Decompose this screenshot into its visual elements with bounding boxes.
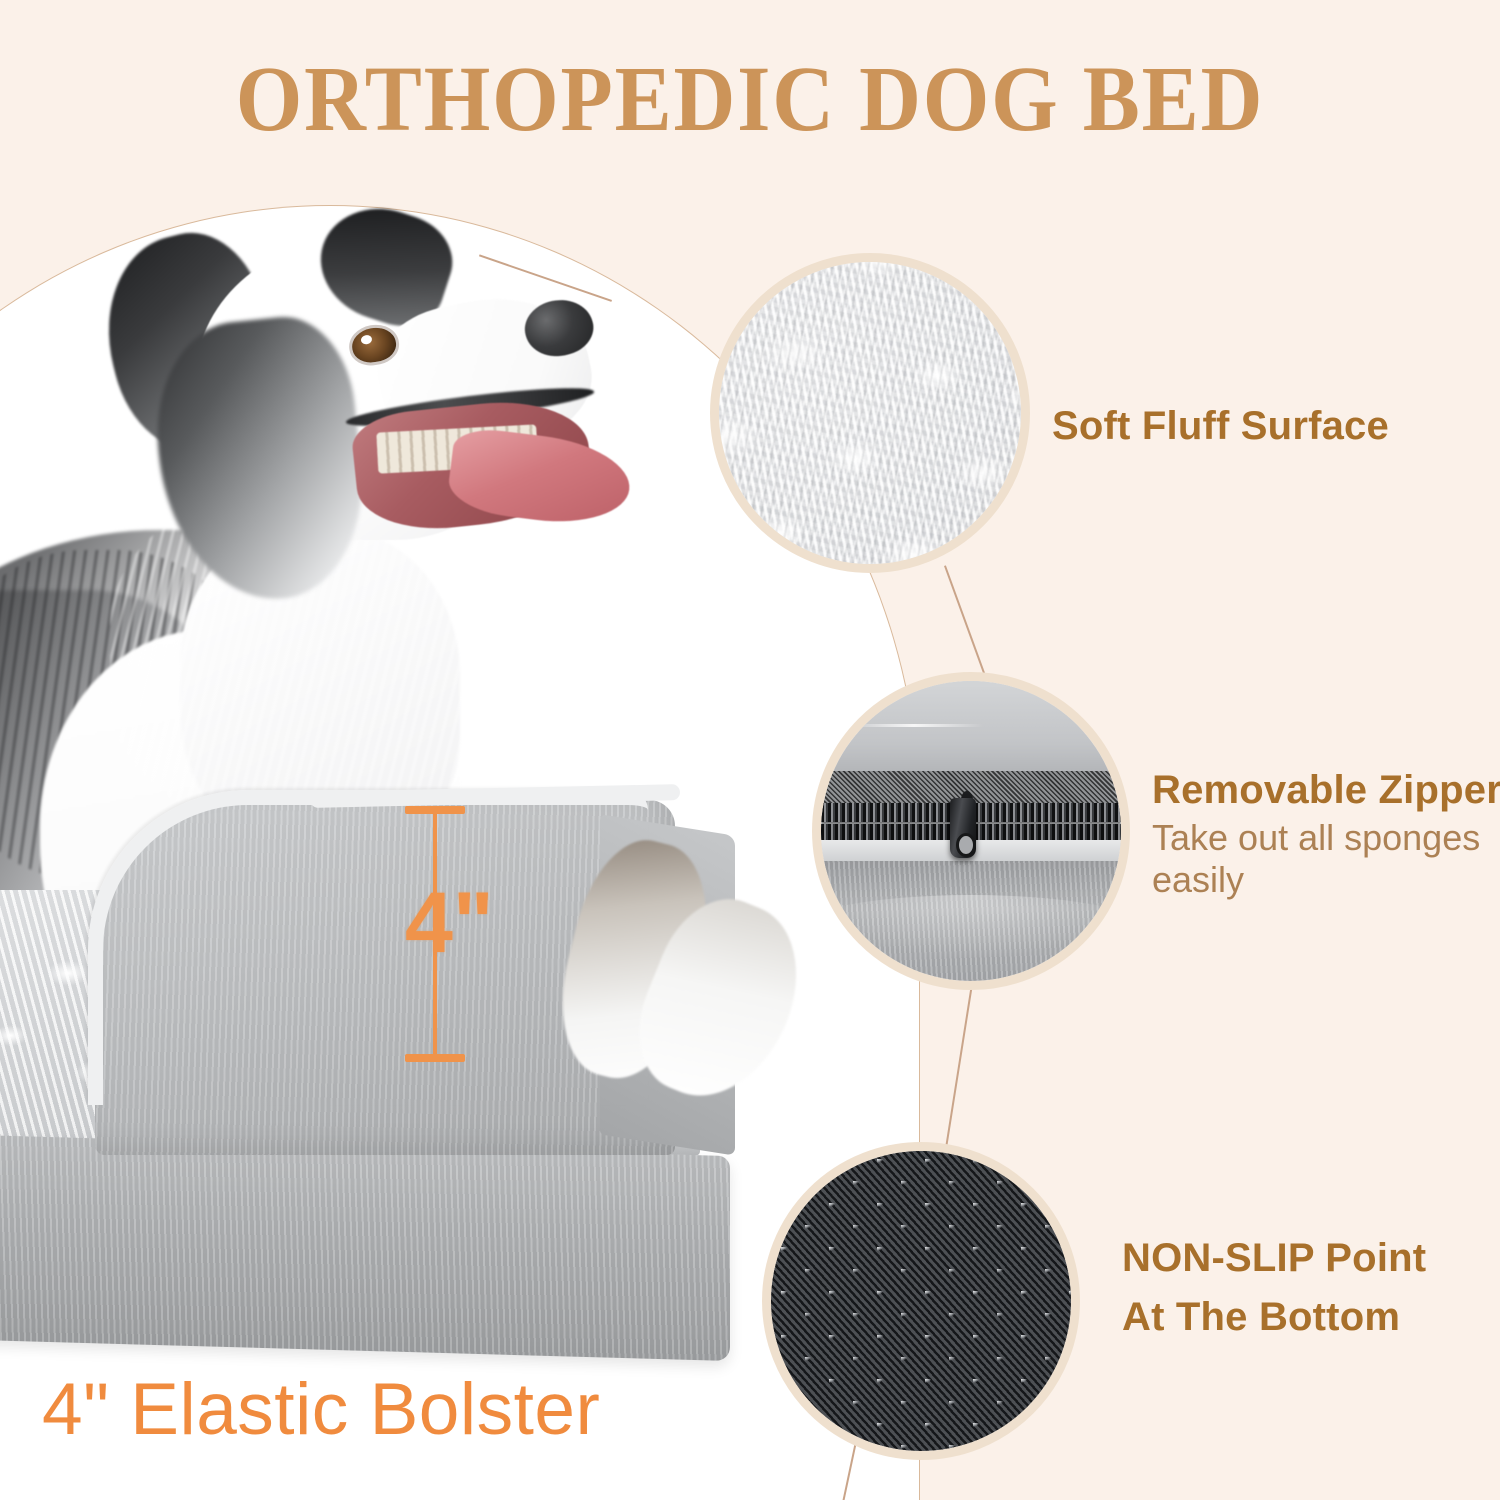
dimension-label-4in: 4": [405, 880, 494, 966]
label-soft-fluff: Soft Fluff Surface: [1052, 404, 1389, 449]
zipper-icon: [821, 681, 1121, 981]
dimension-cap-bottom: [405, 1054, 465, 1062]
label-removable-zipper: Removable Zipper Take out all sponges ea…: [1152, 768, 1500, 901]
label-non-slip: NON-SLIP Point At The Bottom: [1122, 1236, 1426, 1340]
bed-base-slab: [0, 1134, 730, 1361]
caption-elastic-bolster: 4" Elastic Bolster: [42, 1368, 600, 1451]
feature-title-non-slip-line2: At The Bottom: [1122, 1295, 1426, 1340]
feature-subtitle-removable-zipper: Take out all sponges easily: [1152, 817, 1482, 901]
non-slip-dots-icon: [771, 1151, 1071, 1451]
callout-circle-removable-zipper: [812, 672, 1130, 990]
connector-line-zipper-to-nonslip: [944, 984, 973, 1152]
feature-title-removable-zipper: Removable Zipper: [1152, 768, 1500, 813]
bed-piping-trim: [88, 790, 648, 1105]
callout-circle-soft-fluff: [710, 253, 1030, 573]
feature-title-non-slip-line1: NON-SLIP Point: [1122, 1236, 1426, 1281]
fluff-texture-icon: [719, 262, 1021, 564]
product-photo-dog-on-bed: 4": [0, 200, 830, 1500]
callout-circle-non-slip: [762, 1142, 1080, 1460]
page-title: ORTHOPEDIC DOG BED: [60, 46, 1440, 153]
feature-title-soft-fluff: Soft Fluff Surface: [1052, 404, 1389, 449]
infographic-canvas: ORTHOPEDIC DOG BED: [0, 0, 1500, 1500]
